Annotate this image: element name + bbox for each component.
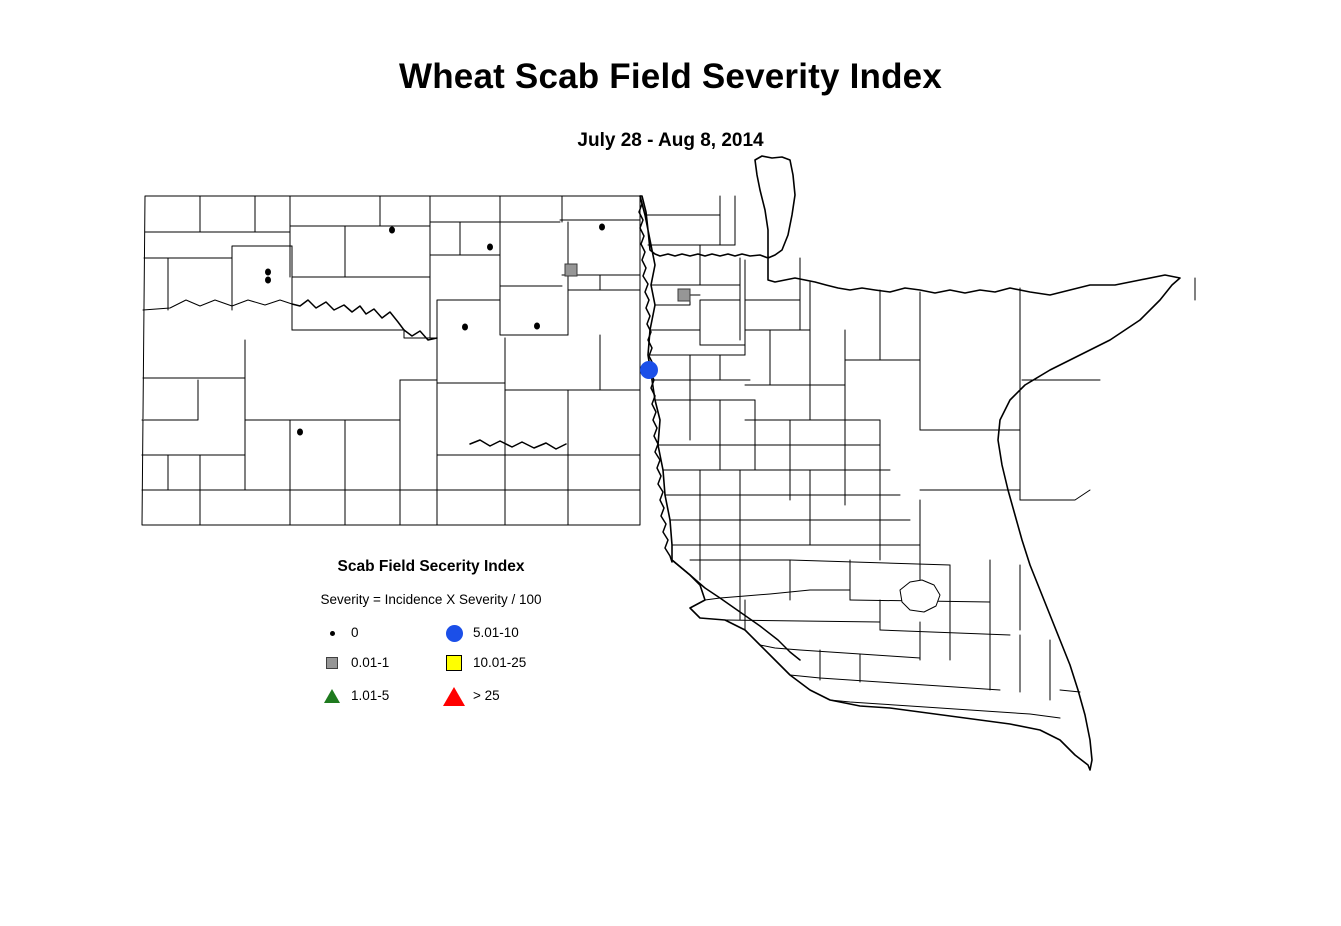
map-marker-severity-0 — [534, 323, 540, 330]
small-black-dot-icon — [319, 620, 345, 646]
map-marker-severity-0 — [462, 324, 468, 331]
legend-item-label: 0 — [351, 620, 359, 646]
map-marker-severity-0 — [487, 244, 493, 251]
legend-item-label: 1.01-5 — [351, 683, 389, 709]
green-triangle-icon — [319, 683, 345, 709]
blue-circle-icon — [441, 620, 467, 646]
north-dakota-counties — [142, 196, 640, 525]
map-marker-severity-0 — [265, 269, 271, 276]
red-triangle-icon — [441, 683, 467, 709]
map-legend: Scab Field Secerity Index Severity = Inc… — [305, 558, 557, 718]
map-page: Wheat Scab Field Severity Index July 28 … — [0, 0, 1341, 926]
legend-item-label: 0.01-1 — [351, 650, 389, 676]
map-marker-severity-0-01-1 — [565, 264, 578, 277]
map-marker-severity-0 — [265, 277, 271, 284]
yellow-square-icon — [441, 650, 467, 676]
map-marker-severity-0 — [389, 227, 395, 234]
legend-item-label: 5.01-10 — [473, 620, 519, 646]
legend-item-label: 10.01-25 — [473, 650, 526, 676]
legend-item-label: > 25 — [473, 683, 500, 709]
map-marker-severity-0-01-1 — [678, 289, 691, 302]
legend-subtitle-formula: Severity = Incidence X Severity / 100 — [303, 592, 559, 607]
map-canvas — [0, 0, 1341, 926]
map-marker-severity-0 — [599, 224, 605, 231]
minnesota-counties — [640, 156, 1195, 770]
legend-title: Scab Field Secerity Index — [305, 558, 557, 576]
map-marker-severity-0 — [297, 429, 303, 436]
gray-square-icon — [319, 650, 345, 676]
county-map-svg — [0, 0, 1341, 926]
map-marker-severity-5-01-10 — [640, 361, 658, 379]
